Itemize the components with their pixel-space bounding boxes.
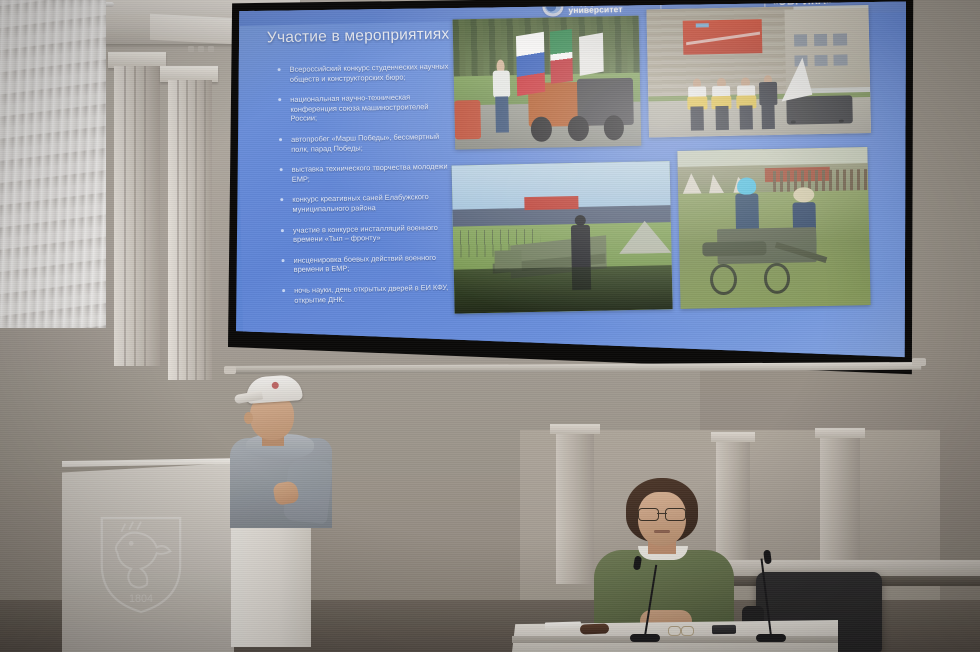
kfu-zilant-emblem-icon: 1804 (92, 507, 190, 617)
pilaster-4-capital (711, 432, 755, 442)
pilaster-5-capital (815, 428, 865, 438)
presenter-ear (244, 412, 253, 424)
table-edge (512, 636, 838, 643)
projector-glow (236, 0, 908, 372)
podium-emblem-year: 1804 (129, 593, 153, 605)
pilaster (114, 66, 160, 366)
presenter-cap (245, 374, 303, 404)
pilaster-2 (168, 80, 212, 380)
smartphone[interactable] (712, 625, 736, 634)
seated-person (588, 478, 738, 628)
pilaster-5 (820, 436, 860, 570)
eyeglasses-on-table[interactable] (668, 626, 694, 634)
conference-photo: Казанский федеральный университет Елабуж… (0, 0, 980, 652)
notebook[interactable] (545, 622, 581, 632)
curtain (0, 0, 106, 328)
screen-end-cap-left (224, 366, 236, 374)
projection-screen[interactable]: Казанский федеральный университет Елабуж… (236, 0, 908, 372)
presenter-person (228, 376, 332, 526)
case[interactable] (580, 623, 609, 634)
seated-person-mouth (654, 530, 670, 533)
pilaster-3-capital (550, 424, 600, 434)
screen-end-cap-right (912, 358, 926, 366)
presentation-slide: Казанский федеральный университет Елабуж… (236, 0, 908, 372)
eyeglasses-icon (638, 508, 686, 519)
